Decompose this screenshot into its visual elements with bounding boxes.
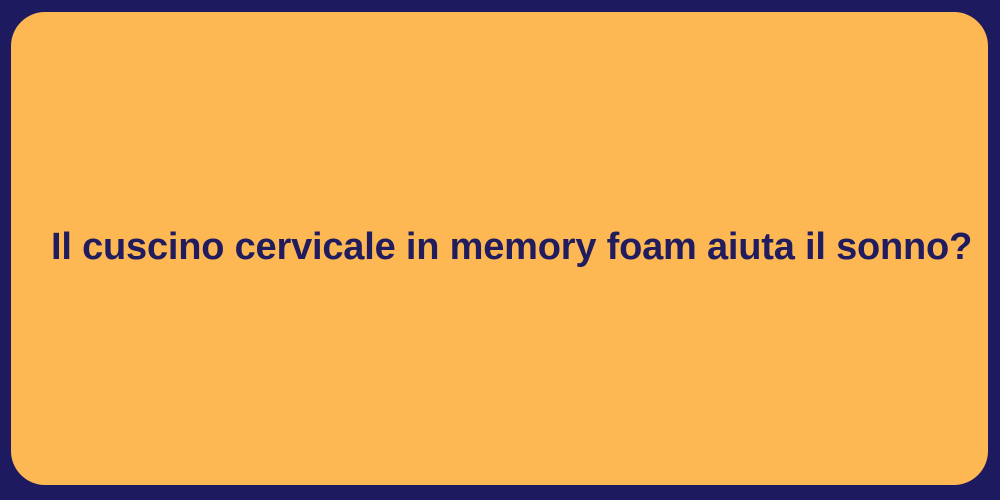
banner-frame: Il cuscino cervicale in memory foam aiut… (0, 0, 1000, 500)
banner-headline: Il cuscino cervicale in memory foam aiut… (11, 225, 988, 270)
banner-card: Il cuscino cervicale in memory foam aiut… (11, 12, 988, 485)
